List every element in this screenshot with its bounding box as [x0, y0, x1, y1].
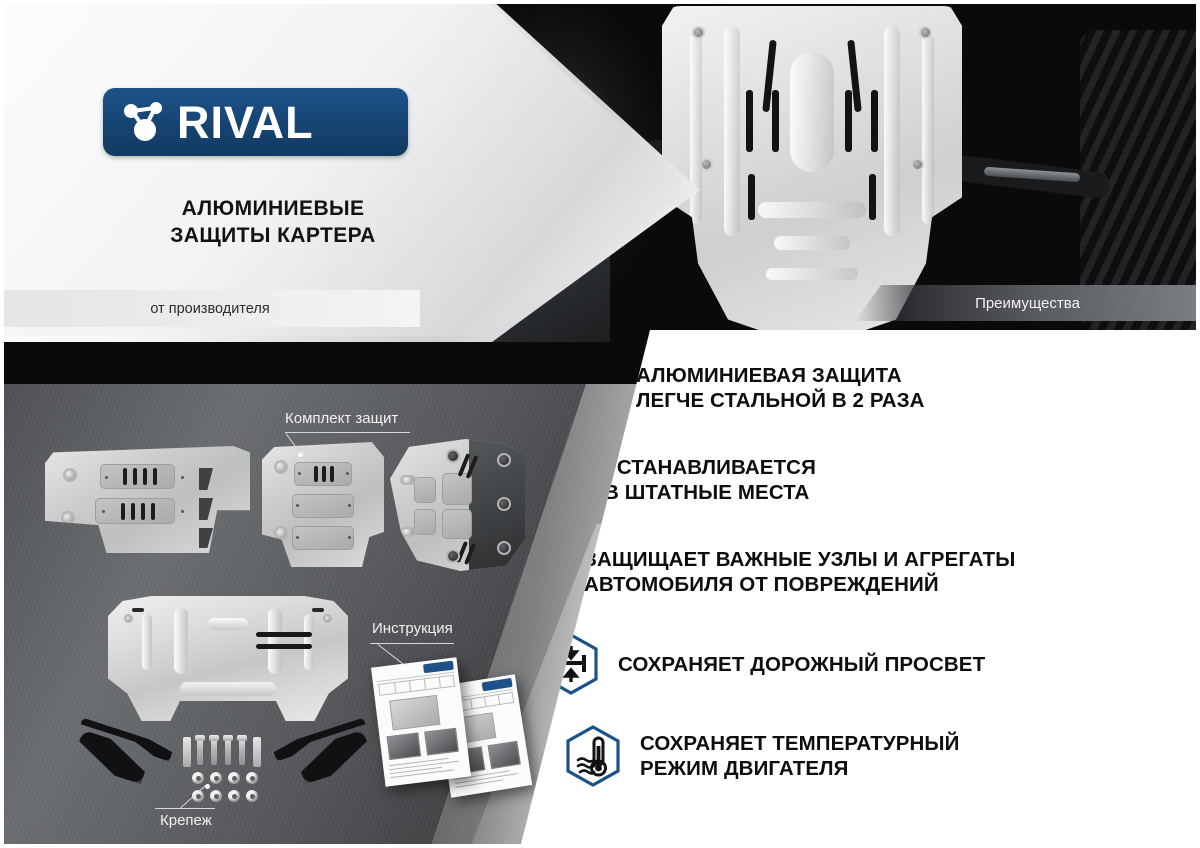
feature-line1: УСТАНАВЛИВАЕТСЯ	[604, 456, 816, 479]
feature-item: СОХРАНЯЕТ ТЕМПЕРАТУРНЫЙ РЕЖИМ ДВИГАТЕЛЯ	[562, 724, 1184, 790]
feature-line2: ЛЕГЧЕ СТАЛЬНОЙ В 2 РАЗА	[636, 389, 925, 412]
hero-subtitle-wrap: от производителя	[0, 290, 420, 327]
feature-text: СОХРАНЯЕТ ТЕМПЕРАТУРНЫЙ РЕЖИМ ДВИГАТЕЛЯ	[640, 732, 959, 782]
thermometer-icon	[562, 724, 624, 790]
instruction-leader-diag	[378, 644, 404, 664]
feature-line2: АВТОМОБИЛЯ ОТ ПОВРЕЖДЕНИЙ	[584, 573, 939, 596]
frame-top	[0, 0, 1200, 4]
features-list: АЛЮМИНИЕВАЯ ЗАЩИТА ЛЕГЧЕ СТАЛЬНОЙ В 2 РА…	[558, 356, 1184, 812]
feature-line2: РЕЖИМ ДВИГАТЕЛЯ	[640, 757, 848, 780]
label-kit: Комплект защит	[285, 410, 398, 427]
feature-item: СОХРАНЯЕТ ДОРОЖНЫЙ ПРОСВЕТ	[540, 632, 1184, 698]
feature-item: УСТАНАВЛИВАЕТСЯ В ШТАТНЫЕ МЕСТА	[526, 448, 1184, 514]
frame-bottom	[0, 844, 1200, 848]
hero-subtitle: от производителя	[150, 301, 269, 317]
kit-leader-line	[285, 432, 410, 433]
guard-plate-main	[108, 596, 348, 721]
page-title-line2: ЗАЩИТЫ КАРТЕРА	[103, 223, 443, 250]
molecule-icon	[117, 95, 171, 149]
divider-band	[0, 342, 660, 384]
label-instruction: Инструкция	[372, 620, 453, 637]
frame-right	[1196, 0, 1200, 848]
feature-line1: ЗАЩИЩАЕТ ВАЖНЫЕ УЗЛЫ И АГРЕГАТЫ	[584, 548, 1015, 571]
feature-line1: СОХРАНЯЕТ ТЕМПЕРАТУРНЫЙ	[640, 732, 959, 755]
feature-text: УСТАНАВЛИВАЕТСЯ В ШТАТНЫЕ МЕСТА	[604, 456, 816, 506]
guard-plate-2	[262, 442, 384, 567]
instruction-leader-dot	[402, 666, 407, 671]
product-infographic-poster: Преимущества RIVAL АЛЮМИНИЕВЫЕ ЗАЩИТЫ КА…	[0, 0, 1200, 848]
feature-text: СОХРАНЯЕТ ДОРОЖНЫЙ ПРОСВЕТ	[618, 653, 985, 678]
instruction-leader-line	[370, 643, 454, 644]
page-title: АЛЮМИНИЕВЫЕ ЗАЩИТЫ КАРТЕРА	[103, 196, 443, 250]
fastener-leader-dot	[205, 784, 210, 789]
guard-plate-3	[390, 439, 525, 571]
brand-name: RIVAL	[177, 100, 314, 145]
frame-left	[0, 0, 4, 848]
label-fasteners: Крепеж	[160, 812, 212, 829]
page-title-line1: АЛЮМИНИЕВЫЕ	[103, 196, 443, 223]
instruction-sheet-front	[371, 657, 471, 787]
guard-plate-1	[45, 446, 250, 553]
advantages-label: Преимущества	[975, 295, 1080, 312]
feature-line1: АЛЮМИНИЕВАЯ ЗАЩИТА	[636, 364, 902, 387]
feature-item: АЛЮМИНИЕВАЯ ЗАЩИТА ЛЕГЧЕ СТАЛЬНОЙ В 2 РА…	[558, 356, 1184, 422]
feature-line1: СОХРАНЯЕТ ДОРОЖНЫЙ ПРОСВЕТ	[618, 653, 985, 676]
feature-text: АЛЮМИНИЕВАЯ ЗАЩИТА ЛЕГЧЕ СТАЛЬНОЙ В 2 РА…	[636, 364, 925, 414]
feature-line2: В ШТАТНЫЕ МЕСТА	[604, 481, 809, 504]
fastener-leader-line	[155, 808, 215, 809]
feature-text: ЗАЩИЩАЕТ ВАЖНЫЕ УЗЛЫ И АГРЕГАТЫ АВТОМОБИ…	[584, 548, 1015, 598]
brand-logo: RIVAL	[103, 88, 408, 156]
advantages-band: Преимущества	[855, 285, 1200, 321]
feature-item: ЗАЩИЩАЕТ ВАЖНЫЕ УЗЛЫ И АГРЕГАТЫ АВТОМОБИ…	[506, 540, 1184, 606]
